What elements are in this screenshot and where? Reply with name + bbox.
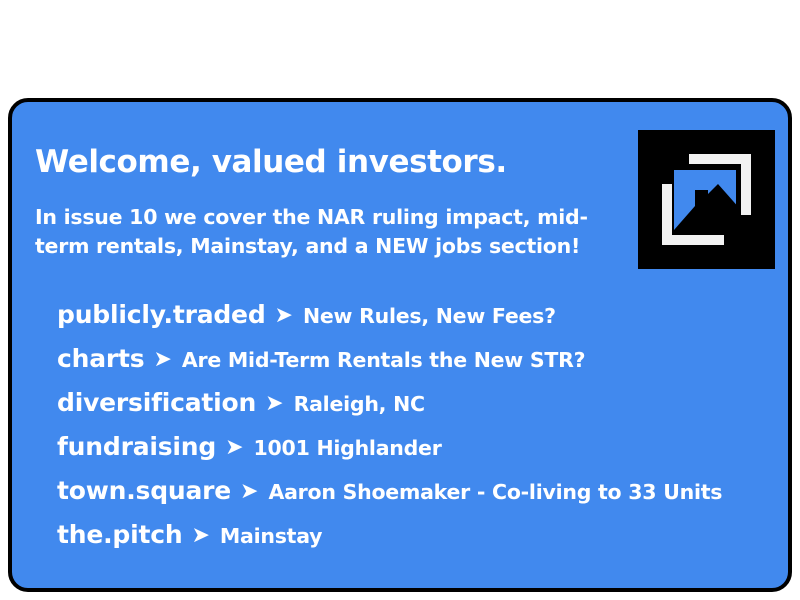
section-label: diversification xyxy=(57,388,256,417)
section-label: fundraising xyxy=(57,432,216,461)
arrow-right-icon: ➤ xyxy=(225,437,243,459)
section-label: charts xyxy=(57,344,144,373)
section-description: 1001 Highlander xyxy=(254,436,442,460)
list-item[interactable]: the.pitch ➤ Mainstay xyxy=(57,520,767,564)
arrow-right-icon: ➤ xyxy=(265,393,283,415)
section-label: the.pitch xyxy=(57,520,182,549)
section-description: Mainstay xyxy=(220,524,322,548)
list-item[interactable]: publicly.traded ➤ New Rules, New Fees? xyxy=(57,300,767,344)
page-canvas: Welcome, valued investors. In issue 10 w… xyxy=(0,0,800,600)
section-description: Are Mid-Term Rentals the New STR? xyxy=(182,348,585,372)
page-title: Welcome, valued investors. xyxy=(35,145,615,180)
newsletter-card: Welcome, valued investors. In issue 10 w… xyxy=(8,98,792,592)
arrow-right-icon: ➤ xyxy=(153,349,171,371)
list-item[interactable]: diversification ➤ Raleigh, NC xyxy=(57,388,767,432)
section-description: New Rules, New Fees? xyxy=(303,304,556,328)
section-label: town.square xyxy=(57,476,231,505)
arrow-right-icon: ➤ xyxy=(191,525,209,547)
list-item[interactable]: town.square ➤ Aaron Shoemaker - Co-livin… xyxy=(57,476,767,520)
arrow-right-icon: ➤ xyxy=(240,481,258,503)
section-list: publicly.traded ➤ New Rules, New Fees? c… xyxy=(57,300,767,564)
arrow-right-icon: ➤ xyxy=(275,305,293,327)
picture-frame-house-logo xyxy=(638,130,775,269)
list-item[interactable]: charts ➤ Are Mid-Term Rentals the New ST… xyxy=(57,344,767,388)
list-item[interactable]: fundraising ➤ 1001 Highlander xyxy=(57,432,767,476)
section-description: Aaron Shoemaker - Co-living to 33 Units xyxy=(268,480,722,504)
issue-summary: In issue 10 we cover the NAR ruling impa… xyxy=(35,203,607,261)
section-label: publicly.traded xyxy=(57,300,266,329)
section-description: Raleigh, NC xyxy=(294,392,425,416)
